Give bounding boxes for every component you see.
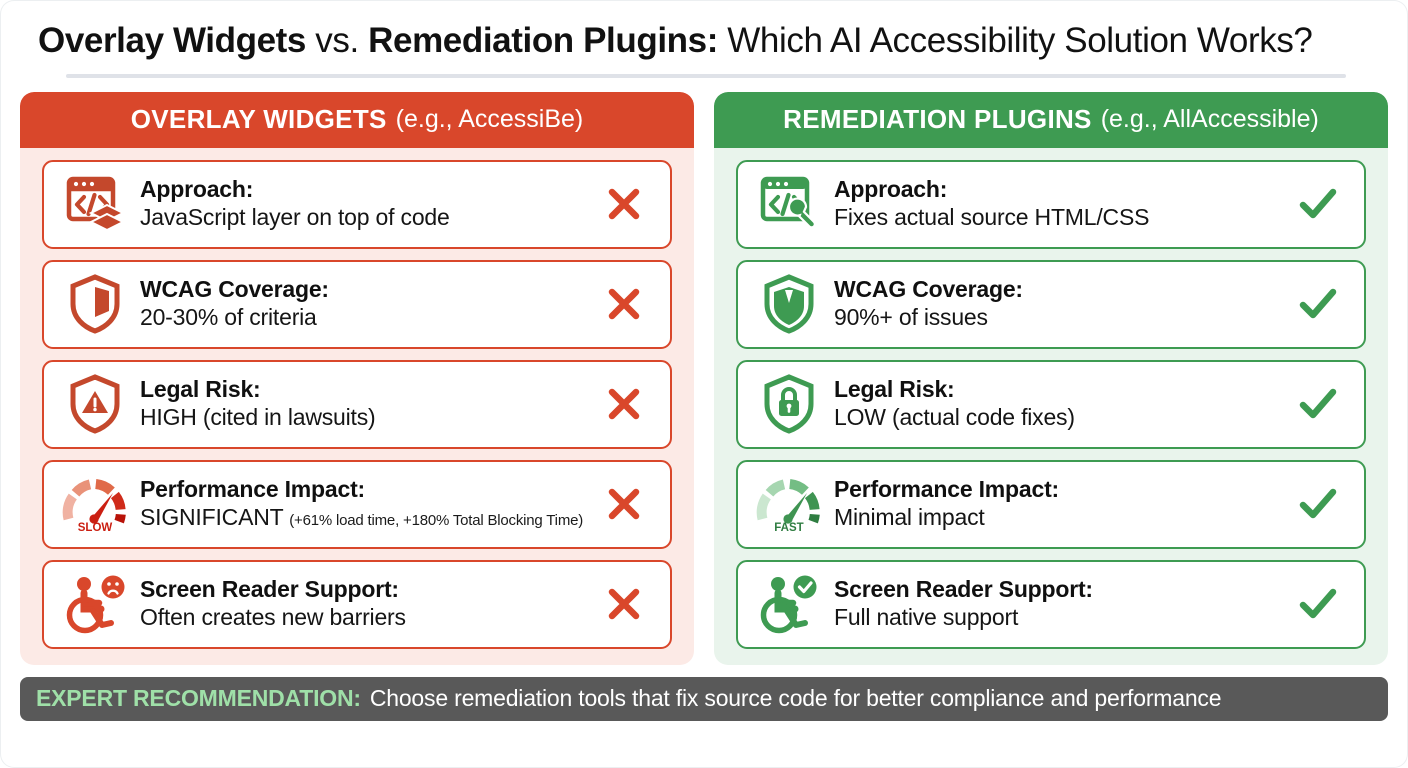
column-header-example: (e.g., AccessiBe) (396, 105, 584, 134)
row-text: Legal Risk: HIGH (cited in lawsuits) (132, 377, 596, 432)
title-section: Overlay Widgets vs. Remediation Plugins:… (0, 0, 1408, 78)
row-text: Screen Reader Support: Full native suppo… (826, 577, 1290, 632)
check-icon (1290, 384, 1346, 424)
comparison-columns: OVERLAY WIDGETS (e.g., AccessiBe) (0, 78, 1408, 665)
row-label: Performance Impact: (834, 477, 1290, 503)
row-label: Screen Reader Support: (140, 577, 596, 603)
row-value: Minimal impact (834, 504, 1290, 532)
row-label: Legal Risk: (834, 377, 1290, 403)
row-wcag-coverage: WCAG Coverage: 90%+ of issues (736, 260, 1366, 349)
row-wcag-coverage: WCAG Coverage: 20-30% of criteria (42, 260, 672, 349)
rows-overlay-widgets: Approach: JavaScript layer on top of cod… (20, 148, 694, 665)
shield-full-icon (752, 269, 826, 339)
row-text: Performance Impact: SIGNIFICANT (+61% lo… (132, 477, 596, 532)
column-overlay-widgets: OVERLAY WIDGETS (e.g., AccessiBe) (20, 92, 694, 665)
row-value: Often creates new barriers (140, 604, 596, 632)
wheelchair-check-icon (752, 569, 826, 639)
shield-warning-icon (58, 369, 132, 439)
row-label: Approach: (834, 177, 1290, 203)
svg-text:SLOW: SLOW (78, 522, 113, 534)
row-screen-reader-support: Screen Reader Support: Often creates new… (42, 560, 672, 649)
row-label: Performance Impact: (140, 477, 596, 503)
row-value-note: (+61% load time, +180% Total Blocking Ti… (289, 512, 583, 529)
row-text: WCAG Coverage: 90%+ of issues (826, 277, 1290, 332)
cross-icon (596, 285, 652, 323)
row-text: Screen Reader Support: Often creates new… (132, 577, 596, 632)
row-legal-risk: Legal Risk: LOW (actual code fixes) (736, 360, 1366, 449)
check-icon (1290, 484, 1346, 524)
row-label: Legal Risk: (140, 377, 596, 403)
footer-recommendation-text: Choose remediation tools that fix source… (370, 685, 1221, 712)
row-label: WCAG Coverage: (140, 277, 596, 303)
title-part-vs: vs. (306, 21, 368, 60)
row-value: HIGH (cited in lawsuits) (140, 404, 596, 432)
check-icon (1290, 284, 1346, 324)
row-legal-risk: Legal Risk: HIGH (cited in lawsuits) (42, 360, 672, 449)
row-value: Fixes actual source HTML/CSS (834, 204, 1290, 232)
row-performance-impact: FAST Performance Impact: Minimal impact (736, 460, 1366, 549)
shield-lock-icon (752, 369, 826, 439)
column-remediation-plugins: REMEDIATION PLUGINS (e.g., AllAccessible… (714, 92, 1388, 665)
column-header-title: OVERLAY WIDGETS (131, 104, 387, 135)
row-value: Full native support (834, 604, 1290, 632)
gauge-fast-icon: FAST (752, 469, 826, 539)
expert-recommendation-banner: EXPERT RECOMMENDATION: Choose remediatio… (20, 677, 1388, 721)
column-header-example: (e.g., AllAccessible) (1101, 105, 1319, 134)
rows-remediation-plugins: Approach: Fixes actual source HTML/CSS (714, 148, 1388, 665)
row-text: WCAG Coverage: 20-30% of criteria (132, 277, 596, 332)
check-icon (1290, 584, 1346, 624)
row-text: Performance Impact: Minimal impact (826, 477, 1290, 532)
shield-partial-icon (58, 269, 132, 339)
title-part-question: Which AI Accessibility Solution Works? (718, 21, 1313, 60)
infographic-root: Overlay Widgets vs. Remediation Plugins:… (0, 0, 1408, 768)
row-value-main: SIGNIFICANT (140, 504, 283, 530)
title-part-overlay: Overlay Widgets (38, 21, 306, 60)
check-icon (1290, 184, 1346, 224)
code-window-layers-icon (58, 169, 132, 239)
column-header-remediation-plugins: REMEDIATION PLUGINS (e.g., AllAccessible… (714, 92, 1388, 148)
title-part-remediation: Remediation Plugins: (368, 21, 718, 60)
cross-icon (596, 385, 652, 423)
row-label: WCAG Coverage: (834, 277, 1290, 303)
row-performance-impact: SLOW Performance Impact: SIGNIFICANT (+6… (42, 460, 672, 549)
row-value: 90%+ of issues (834, 304, 1290, 332)
row-value: 20-30% of criteria (140, 304, 596, 332)
wheelchair-sad-icon (58, 569, 132, 639)
row-text: Legal Risk: LOW (actual code fixes) (826, 377, 1290, 432)
row-label: Approach: (140, 177, 596, 203)
row-screen-reader-support: Screen Reader Support: Full native suppo… (736, 560, 1366, 649)
svg-text:FAST: FAST (774, 522, 803, 534)
row-value: LOW (actual code fixes) (834, 404, 1290, 432)
row-text: Approach: Fixes actual source HTML/CSS (826, 177, 1290, 232)
column-header-title: REMEDIATION PLUGINS (783, 104, 1092, 135)
column-header-overlay-widgets: OVERLAY WIDGETS (e.g., AccessiBe) (20, 92, 694, 148)
gauge-slow-icon: SLOW (58, 469, 132, 539)
row-label: Screen Reader Support: (834, 577, 1290, 603)
cross-icon (596, 185, 652, 223)
footer-lead-label: EXPERT RECOMMENDATION: (36, 685, 361, 712)
row-approach: Approach: JavaScript layer on top of cod… (42, 160, 672, 249)
cross-icon (596, 585, 652, 623)
row-value: SIGNIFICANT (+61% load time, +180% Total… (140, 504, 596, 532)
cross-icon (596, 485, 652, 523)
code-window-wrench-icon (752, 169, 826, 239)
page-title: Overlay Widgets vs. Remediation Plugins:… (38, 22, 1374, 60)
row-approach: Approach: Fixes actual source HTML/CSS (736, 160, 1366, 249)
row-text: Approach: JavaScript layer on top of cod… (132, 177, 596, 232)
row-value: JavaScript layer on top of code (140, 204, 596, 232)
